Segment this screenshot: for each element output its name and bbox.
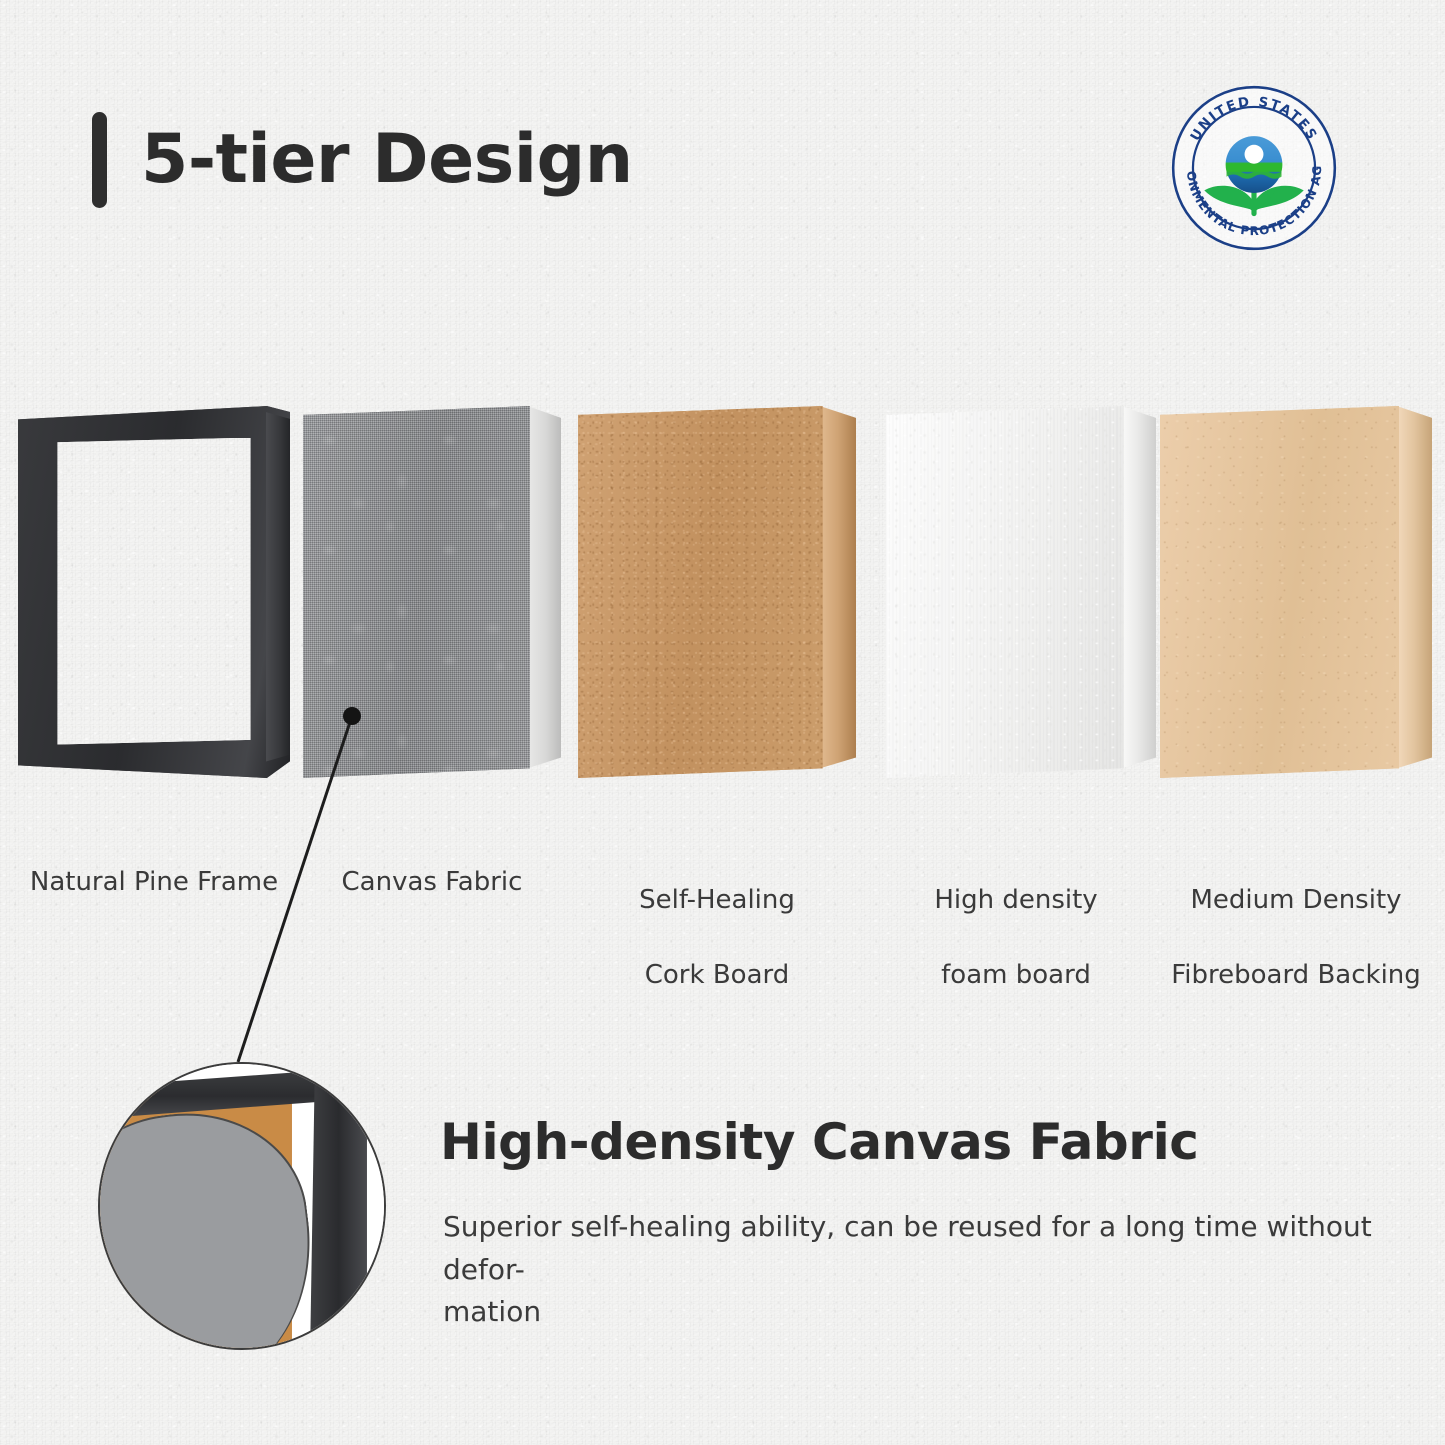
layer-panel-natural-pine-frame[interactable] [18,406,290,778]
layer-panel-foam-board[interactable] [886,406,1156,778]
detail-body-text: Superior self-healing ability, can be re… [443,1206,1403,1334]
layer-label-mdf-backing: Medium Density Fibreboard Backing [1150,845,1442,1032]
layer-label-cork-board-line1: Self-Healing [577,882,857,919]
frame-opening [57,438,250,745]
layer-label-mdf-backing-line2: Fibreboard Backing [1150,957,1442,994]
layer-label-canvas-fabric: Canvas Fabric [297,864,567,901]
mdf-side-edge [1397,406,1432,778]
layer-label-foam-board-line1: High density [882,882,1150,919]
detail-circle-frame-corner[interactable] [98,1062,386,1350]
foam-front-face [886,406,1124,778]
infographic-canvas: 5-tier Design UNITED STATES ENVIRONMENTA… [0,0,1445,1445]
cork-side-edge [820,406,856,778]
layer-label-foam-board-line2: foam board [882,957,1150,994]
foam-side-edge [1121,406,1156,778]
layer-label-foam-board: High density foam board [882,845,1150,1032]
layer-panel-mdf-backing[interactable] [1160,406,1432,778]
canvas-side-edge [527,406,561,778]
layer-panel-cork-board[interactable] [578,406,856,778]
cork-front-face [578,406,823,778]
mdf-front-face [1160,406,1399,778]
detail-frame-right-rail [310,1075,367,1350]
layer-label-natural-pine-frame: Natural Pine Frame [4,864,304,901]
detail-heading: High-density Canvas Fabric [440,1113,1199,1171]
canvas-front-face [303,406,530,778]
layer-panel-canvas-fabric[interactable] [303,406,561,778]
frame-opening-texture [57,438,250,745]
layer-label-cork-board: Self-Healing Cork Board [577,845,857,1032]
layer-label-mdf-backing-line1: Medium Density [1150,882,1442,919]
frame-right-edge [266,412,290,762]
layer-label-cork-board-line2: Cork Board [577,957,857,994]
